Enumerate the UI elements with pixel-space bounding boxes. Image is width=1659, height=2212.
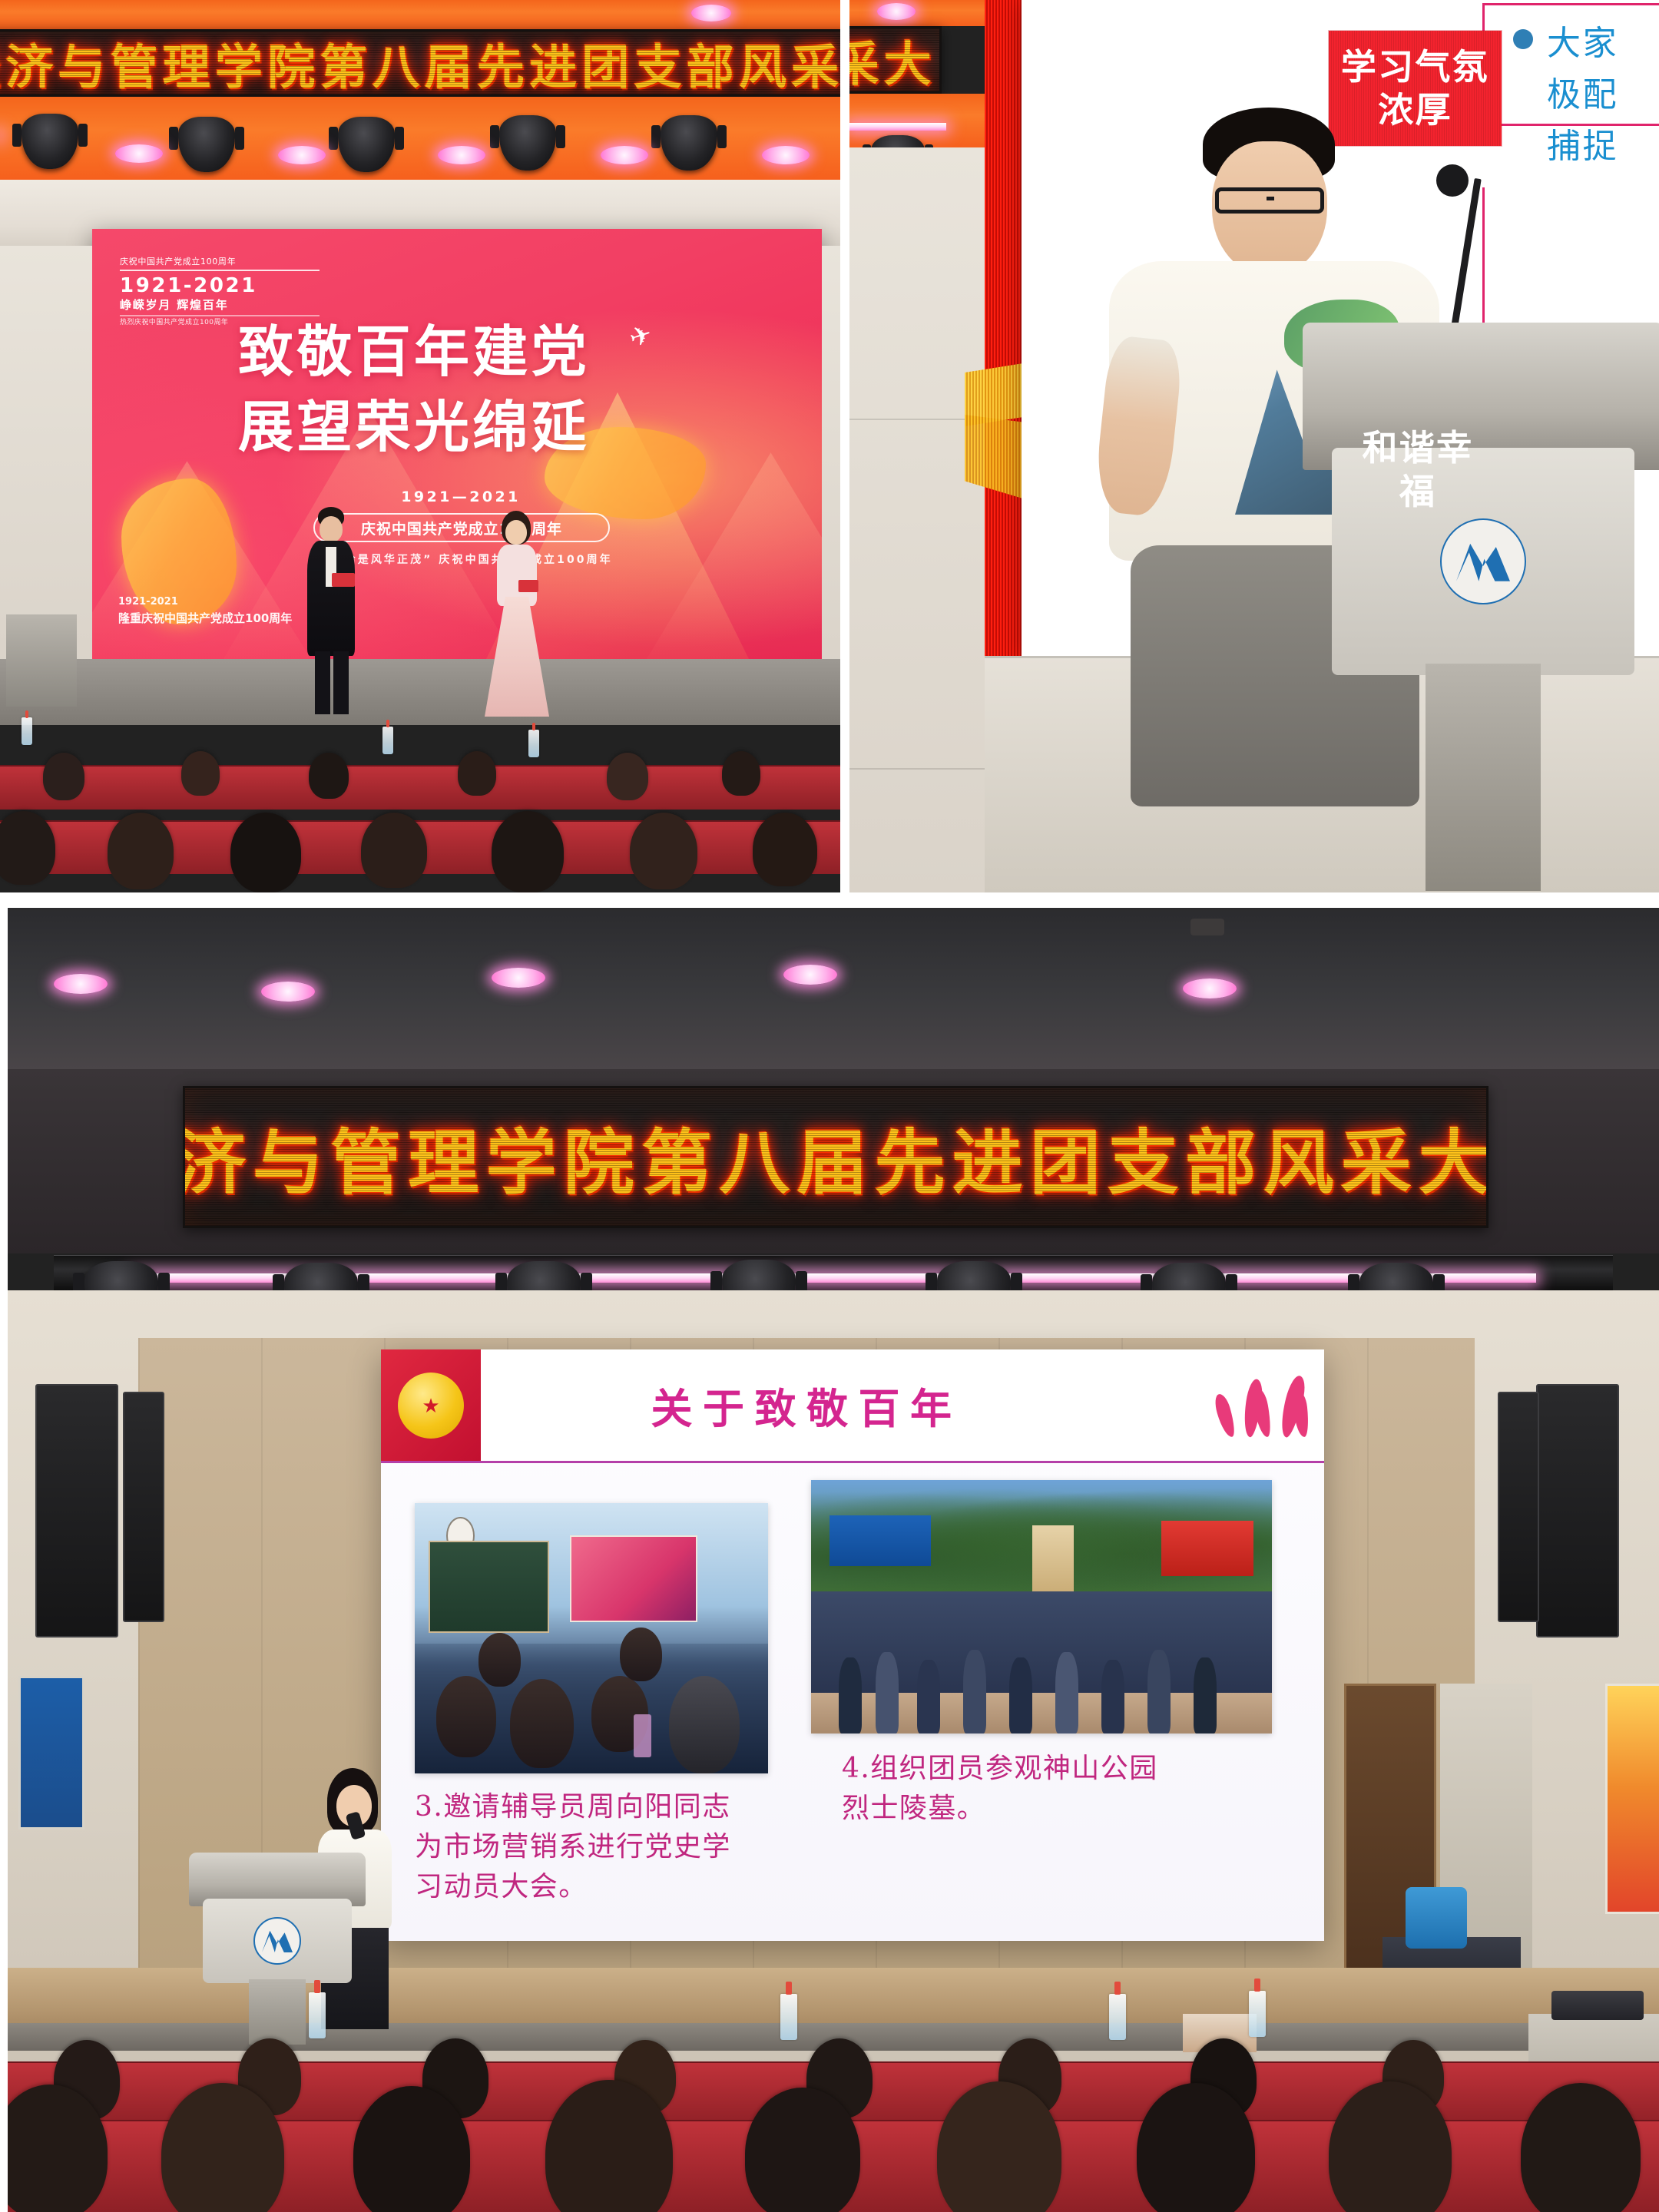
slide-title-line-2: 展望荣光绵延 [238,392,590,464]
slide-about-century-deeds: ★ 关于致敬百年 [381,1349,1324,1941]
ceiling-downlight [762,146,810,164]
seat-row [0,765,840,810]
student-head [478,1633,521,1687]
memorial-park-group-photo [811,1480,1272,1734]
person-in-group [1101,1660,1124,1734]
slide-header-title: 关于致敬百年 [481,1375,1224,1435]
youth-league-emblem-block: ★ [381,1349,481,1461]
pa-speaker-stack [35,1384,118,1637]
person-in-group [1194,1657,1217,1734]
ceiling-downlight [438,146,485,164]
slide-years: 1921—2021 [284,488,637,505]
blue-stool [1406,1887,1467,1949]
side-wall-panel [0,246,92,676]
monument [1032,1525,1074,1596]
blue-banner [829,1515,931,1566]
leg [333,651,349,714]
person-in-group [839,1657,862,1734]
ceiling-downlight [261,982,315,1002]
school-emblem [253,1917,301,1965]
led-banner-text: 经济与管理学院第八届先进团支部风采大赛 [0,29,840,97]
slide-corner-block: 1921-2021 隆重庆祝中国共产党成立100周年 [118,594,292,627]
lectern-front-face [203,1899,351,1983]
led-banner-text: 支部风采大 [849,26,939,94]
lectern-column [1426,664,1541,891]
person-in-group [963,1650,986,1734]
head [320,516,343,542]
ceiling-downlight [115,144,163,163]
photo-collage: 经济与管理学院第八届先进团支部风采大赛 [0,0,1659,2212]
student-head [510,1679,574,1768]
slide-photo-right [811,1480,1272,1734]
wall-notice-board [18,1676,84,1830]
projection-screen: 庆祝中国共产党成立100周年 1921-2021 峥嵘岁月 辉煌百年 热烈庆祝中… [92,229,822,659]
led-banner: 经济与管理学院第八届先进团支部风采大赛 [0,29,840,97]
leg [315,651,330,714]
ceiling-downlight [54,974,108,994]
gown-skirt [485,597,549,717]
badge-years: 1921-2021 [120,273,320,299]
neon-strip [849,123,946,131]
bracket-connector [1482,187,1659,326]
ceiling-fixture [1190,919,1224,935]
red-label-box-1: 学习气氛浓厚 [1329,31,1502,146]
ceiling-downlight [877,3,916,20]
student-head [669,1676,740,1773]
ceiling-downlight [691,5,731,22]
audience-head [458,751,496,796]
bullet-item-1: 大家 极配 捕捉 [1513,18,1659,173]
audience-head [108,813,174,889]
audience-head [1137,2083,1255,2212]
audience-head [181,751,220,796]
photo-panel-speaker-at-podium: 支部风采大 学习气氛浓厚 [849,0,1659,892]
corner-years: 1921-2021 [118,594,292,610]
audience-head [607,753,648,800]
pa-speaker-stack [123,1392,164,1622]
blackboard [429,1541,548,1633]
audience-head [230,813,301,892]
school-emblem [1440,518,1526,604]
lectern [1303,323,1659,891]
dancer-figure-icon [1292,1390,1310,1438]
microphone-head-icon [1436,164,1469,197]
person-in-group [1147,1650,1171,1734]
photo-panel-hosts-on-stage: 经济与管理学院第八届先进团支部风采大赛 [0,0,840,892]
audience-head [630,813,697,889]
slide-subtitle: “百年恰是风华正茂” 庆祝中国共产党成立100周年 [207,551,714,567]
person-in-group [876,1652,899,1734]
female-host [480,511,554,717]
led-banner: 经济与管理学院第八届先进团支部风采大赛 [183,1086,1488,1228]
slide-header: ★ 关于致敬百年 [381,1349,1324,1463]
person-in-group [1009,1657,1032,1734]
person-in-group [917,1660,940,1734]
slide-commemorate-century: 庆祝中国共产党成立100周年 1921-2021 峥嵘岁月 辉煌百年 热烈庆祝中… [92,229,822,659]
slide-photo-left [415,1503,768,1773]
slide-title-line-1: 致敬百年建党 [238,316,590,389]
classroom-meeting-photo [415,1503,768,1773]
seated-audience [8,2012,1659,2212]
audience-head [309,753,349,799]
bullet-1-text: 大家 极配 捕捉 [1547,18,1618,173]
slide-caption-right: 4.组织团员参观神山公园烈士陵墓。 [842,1749,1164,1829]
red-card [332,573,355,587]
red-box-1-text: 学习气氛浓厚 [1341,45,1489,131]
ceiling-downlight [783,965,837,985]
mountain-mark-icon [1456,541,1510,581]
audience-head [361,813,427,888]
stage-closeup-scene: 支部风采大 学习气氛浓厚 [849,0,1659,892]
side-wall-pillar [849,147,985,892]
pa-speaker-stack [1498,1392,1539,1622]
eyeglasses [1215,187,1324,214]
badge-sub: 峥嵘岁月 辉煌百年 [120,298,320,313]
red-card [518,580,538,592]
youth-league-emblem-icon: ★ [398,1373,464,1439]
side-wall-panel [822,246,840,676]
dancing-figures-decoration [1224,1374,1324,1437]
head [505,520,527,545]
ceiling-downlight [1183,979,1237,998]
audience-head [753,813,817,886]
student-head [436,1676,496,1757]
male-host [301,507,361,714]
auditorium-scene: 经济与管理学院第八届先进团支部风采大赛 [0,0,840,892]
red-box-2-text: 和谐幸福 [1363,426,1474,512]
divider [120,270,320,271]
wall-decorative-banner [1605,1684,1659,1914]
ceiling [8,908,1659,1069]
audience-head [492,811,564,892]
wide-auditorium-scene: 经济与管理学院第八届先进团支部风采大赛 [8,908,1659,2212]
ceiling-downlight [278,146,326,164]
dove-icon: ✈ [626,319,656,355]
star-icon: ★ [422,1396,439,1416]
audience-head [43,753,84,800]
audience-head [745,2088,860,2212]
ceiling-downlight [601,146,648,164]
projection-screen: ★ 关于致敬百年 [381,1349,1324,1941]
student-head [620,1628,662,1681]
badge-top-text: 庆祝中国共产党成立100周年 [120,257,320,267]
led-banner: 支部风采大 [849,26,942,94]
glasses-bridge [1267,197,1274,200]
side-table [6,614,77,707]
red-banner [1161,1521,1253,1577]
bullet-dot-icon [1513,29,1533,49]
audience-head [722,751,760,796]
led-banner-text: 经济与管理学院第八届先进团支部风采大赛 [183,1106,1488,1208]
pa-speaker-stack [1536,1384,1619,1637]
mountain-mark-icon [262,1929,293,1952]
pillar-seam [849,768,985,770]
photo-panel-presenter-and-deeds-slide: 经济与管理学院第八届先进团支部风采大赛 [8,908,1659,2212]
corner-text: 隆重庆祝中国共产党成立100周年 [118,610,292,628]
ceiling-downlight [492,968,545,988]
purple-cup [634,1714,651,1757]
person-in-group [1055,1652,1078,1734]
slide-caption-left: 3.邀请辅导员周向阳同志为市场营销系进行党史学习动员大会。 [415,1787,745,1908]
seated-audience [0,716,840,892]
classroom-projection [570,1535,697,1622]
